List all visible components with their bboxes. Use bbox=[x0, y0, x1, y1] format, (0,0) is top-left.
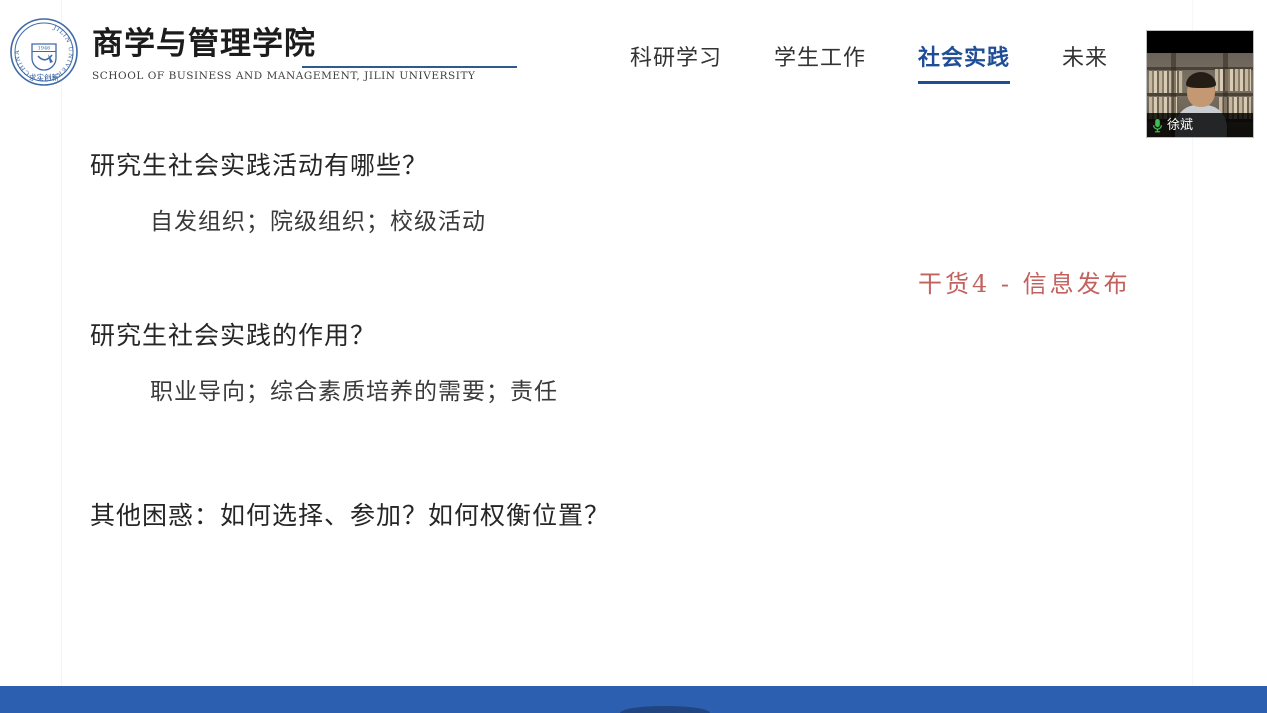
background-books bbox=[1215, 69, 1251, 91]
jilin-university-emblem-icon: JILIN UNIVERSITY · CHINA 1946 求实创新 bbox=[8, 16, 80, 88]
brand-divider-rule bbox=[302, 66, 517, 68]
question-line-2: 研究生社会实践的作用？ bbox=[90, 316, 376, 352]
answer-line-1: 自发组织；院级组织；校级活动 bbox=[150, 202, 486, 236]
microphone-icon bbox=[1152, 118, 1163, 133]
participant-name-label: 徐斌 bbox=[1167, 118, 1193, 133]
nav-active-underline bbox=[918, 81, 1010, 84]
participant-video-tile[interactable]: 徐斌 bbox=[1147, 31, 1253, 137]
nav-item-student-work[interactable]: 学生工作 bbox=[774, 40, 866, 84]
svg-text:1946: 1946 bbox=[38, 46, 51, 52]
nav-item-label: 社会实践 bbox=[918, 46, 1010, 71]
participant-hair bbox=[1186, 72, 1216, 88]
callout-text: 干货4 - 信息发布 bbox=[918, 264, 1131, 299]
slide-bottom-bar-shadow bbox=[620, 706, 710, 713]
nav-item-label: 学生工作 bbox=[774, 46, 866, 71]
slide-header: JILIN UNIVERSITY · CHINA 1946 求实创新 商学与管理… bbox=[0, 0, 1267, 118]
nav-item-future[interactable]: 未来 bbox=[1062, 40, 1108, 84]
slide-content: 研究生社会实践活动有哪些？ 自发组织；院级组织；校级活动 研究生社会实践的作用？… bbox=[0, 118, 1267, 686]
nav-item-social-practice[interactable]: 社会实践 bbox=[918, 40, 1010, 84]
question-line-1: 研究生社会实践活动有哪些？ bbox=[90, 146, 428, 182]
nav-item-label: 未来 bbox=[1062, 46, 1108, 71]
nav-item-label: 科研学习 bbox=[630, 46, 722, 71]
question-line-3: 其他困惑：如何选择、参加？如何权衡位置？ bbox=[90, 496, 610, 532]
main-nav: 科研学习 学生工作 社会实践 未来 bbox=[630, 40, 1108, 84]
presentation-slide: JILIN UNIVERSITY · CHINA 1946 求实创新 商学与管理… bbox=[0, 0, 1267, 713]
participant-nameplate: 徐斌 bbox=[1147, 113, 1253, 137]
brand-lockup: JILIN UNIVERSITY · CHINA 1946 求实创新 商学与管理… bbox=[8, 16, 476, 88]
brand-text-block: 商学与管理学院 SCHOOL OF BUSINESS AND MANAGEMEN… bbox=[92, 22, 476, 82]
background-books bbox=[1149, 71, 1183, 93]
brand-title-en: SCHOOL OF BUSINESS AND MANAGEMENT, JILIN… bbox=[92, 70, 476, 82]
brand-title-cn: 商学与管理学院 bbox=[92, 24, 476, 64]
answer-line-2: 职业导向；综合素质培养的需要；责任 bbox=[150, 372, 558, 406]
nav-item-research-study[interactable]: 科研学习 bbox=[630, 40, 722, 84]
svg-text:求实创新: 求实创新 bbox=[29, 72, 59, 82]
